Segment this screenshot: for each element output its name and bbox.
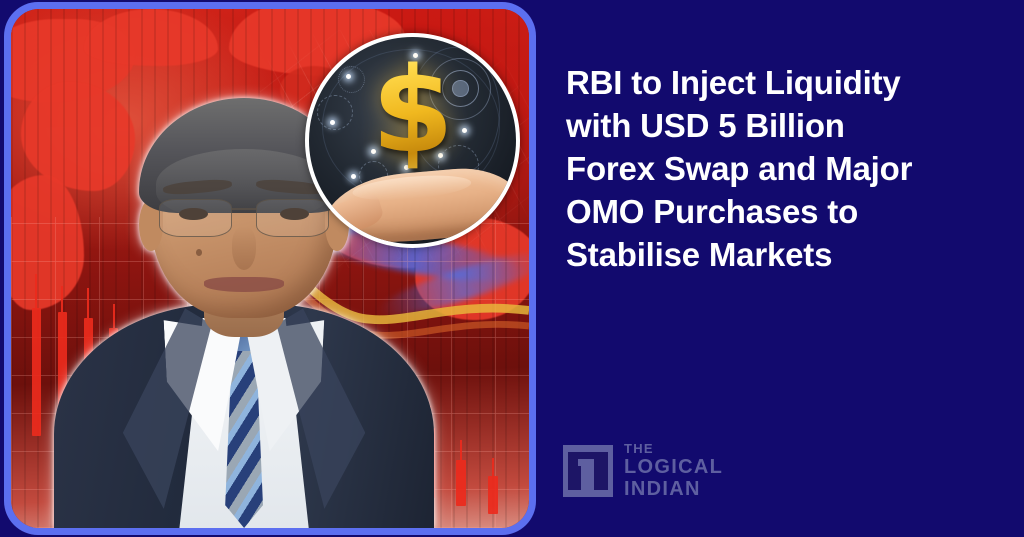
mouth (204, 277, 285, 291)
glasses-bridge (232, 208, 256, 210)
brand-logo-text: THE LOGICAL INDIAN (624, 441, 723, 500)
logo-line-the: THE (624, 441, 723, 456)
photo-panel: $ (4, 2, 536, 535)
candlestick (488, 476, 498, 514)
candlestick (32, 308, 41, 436)
headline-line: OMO Purchases to (566, 191, 986, 234)
light-spark (351, 174, 356, 179)
logo-line-logical: LOGICAL (624, 456, 723, 478)
logo-line-indian: INDIAN (624, 478, 723, 500)
page-title: RBI to Inject Liquidity with USD 5 Billi… (566, 62, 986, 276)
mole (196, 249, 202, 256)
headline-line: Stabilise Markets (566, 234, 986, 277)
the-logical-indian-emblem-icon (563, 445, 613, 497)
photo-image: $ (11, 9, 529, 528)
headline-line: with USD 5 Billion (566, 105, 986, 148)
brand-logo: THE LOGICAL INDIAN (563, 441, 723, 500)
dollar-sign-icon: $ (309, 51, 516, 169)
headline-line: Forex Swap and Major (566, 148, 986, 191)
lens-left (159, 199, 232, 237)
headline-line: RBI to Inject Liquidity (566, 62, 986, 105)
dollar-on-hand-circle: $ (305, 33, 520, 248)
candlestick (456, 460, 466, 506)
